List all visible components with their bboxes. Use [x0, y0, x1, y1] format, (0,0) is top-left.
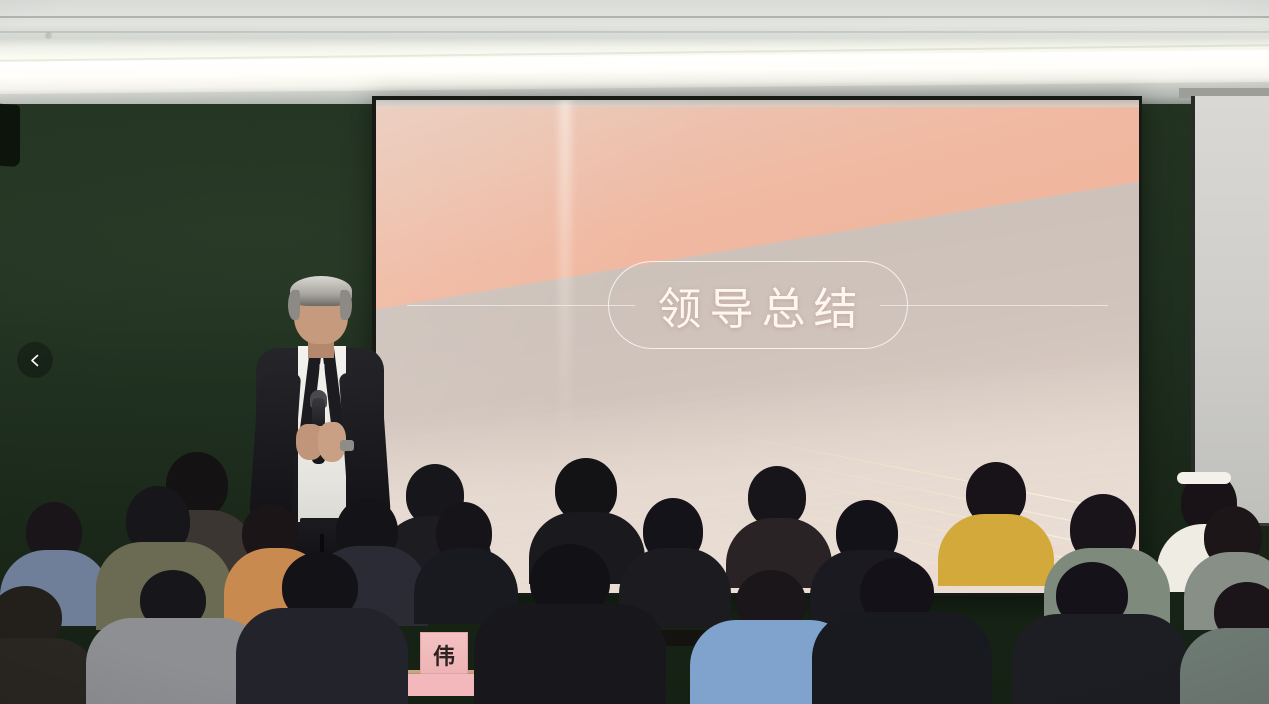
photo-viewer-stage: 领导总结	[0, 0, 1269, 704]
projector-streak	[559, 100, 571, 455]
attendee-body	[1012, 614, 1188, 704]
attendee-headband	[1177, 472, 1231, 484]
attendee-body	[938, 514, 1054, 586]
audience: 伟	[0, 444, 1269, 704]
attendee-body	[812, 612, 992, 704]
wall-speaker-box	[0, 103, 20, 167]
slide-rule-right	[880, 305, 1109, 306]
ceiling-seam	[0, 31, 1269, 33]
name-placard-text: 伟	[433, 639, 455, 671]
slide-title-pill: 领导总结	[608, 261, 908, 349]
name-placard: 伟	[420, 632, 468, 678]
ceiling-seam	[0, 16, 1269, 18]
previous-slide-button[interactable]	[17, 342, 53, 378]
presenter-hair-side	[340, 290, 352, 320]
attendee-body	[1180, 628, 1269, 704]
slide-title: 领导总结	[650, 273, 866, 337]
attendee-body	[474, 604, 666, 704]
chevron-left-icon	[28, 353, 43, 368]
attendee-body	[0, 638, 100, 704]
slide-rule-left	[407, 305, 636, 306]
attendee-body	[236, 608, 408, 704]
ceiling-fixture-dot	[46, 33, 51, 38]
presenter-hair-side	[288, 290, 300, 320]
